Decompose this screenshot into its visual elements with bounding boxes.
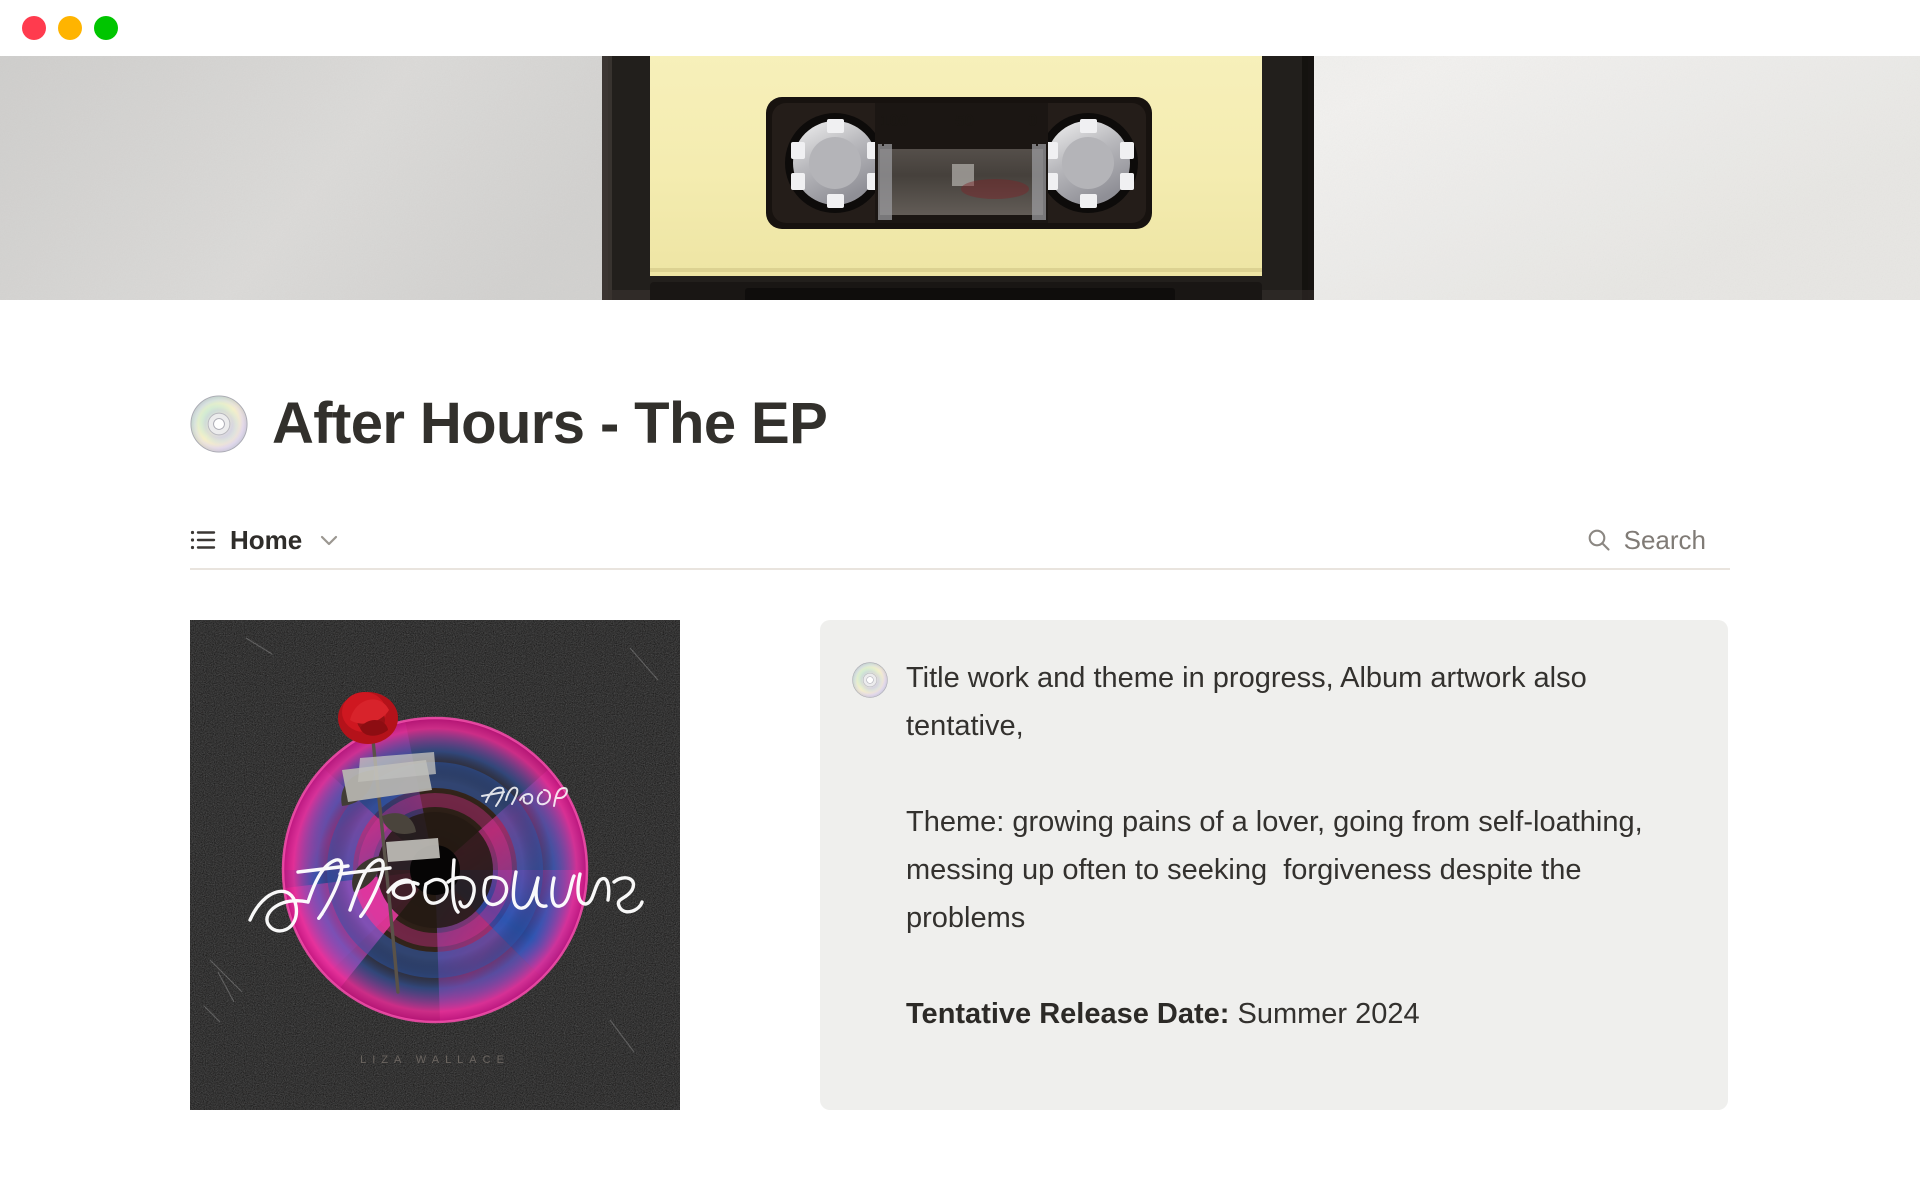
nav-label-home[interactable]: Home bbox=[230, 527, 302, 553]
app-window: 100 50 0 bbox=[0, 0, 1920, 1200]
notes-callout-panel[interactable]: Title work and theme in progress, Album … bbox=[820, 620, 1728, 1110]
traffic-lights bbox=[22, 16, 118, 40]
album-artist-credit: LIZA WALLACE bbox=[360, 1054, 510, 1066]
svg-text:0: 0 bbox=[1028, 111, 1037, 130]
page-nav-bar: Home Search bbox=[190, 512, 1730, 570]
svg-text:100: 100 bbox=[880, 111, 908, 130]
note-paragraph-1: Title work and theme in progress, Album … bbox=[906, 654, 1688, 750]
home-nav-group[interactable]: Home bbox=[190, 518, 340, 562]
notes-text-body[interactable]: Title work and theme in progress, Album … bbox=[906, 654, 1688, 1038]
window-titlebar bbox=[0, 0, 1920, 56]
page-title: After Hours - The EP bbox=[272, 395, 827, 453]
note-paragraph-2: Theme: growing pains of a lover, going f… bbox=[906, 798, 1688, 942]
release-date-label: Tentative Release Date: bbox=[906, 998, 1229, 1030]
chevron-down-icon[interactable] bbox=[318, 529, 340, 551]
search-group[interactable]: Search bbox=[1586, 527, 1730, 553]
column-gap bbox=[680, 620, 820, 1110]
zoom-window-button[interactable] bbox=[94, 16, 118, 40]
optical-disc-icon bbox=[852, 662, 888, 698]
album-cover-image[interactable]: LIZA WALLACE bbox=[190, 620, 680, 1110]
search-input[interactable]: Search bbox=[1624, 527, 1706, 553]
search-icon[interactable] bbox=[1586, 527, 1612, 553]
content-area: LIZA WALLACE bbox=[190, 620, 1730, 1110]
close-window-button[interactable] bbox=[22, 16, 46, 40]
minimize-window-button[interactable] bbox=[58, 16, 82, 40]
release-date-value: Summer 2024 bbox=[1229, 998, 1419, 1030]
album-art-column: LIZA WALLACE bbox=[190, 620, 680, 1110]
list-icon bbox=[190, 527, 216, 553]
page-title-row: After Hours - The EP bbox=[190, 395, 827, 453]
svg-text:50: 50 bbox=[955, 111, 974, 130]
page-body: After Hours - The EP bbox=[0, 300, 1920, 1200]
page-cover-image[interactable]: 100 50 0 bbox=[0, 56, 1920, 300]
optical-disc-icon bbox=[190, 395, 248, 453]
release-date-line: Tentative Release Date: Summer 2024 bbox=[906, 990, 1688, 1038]
